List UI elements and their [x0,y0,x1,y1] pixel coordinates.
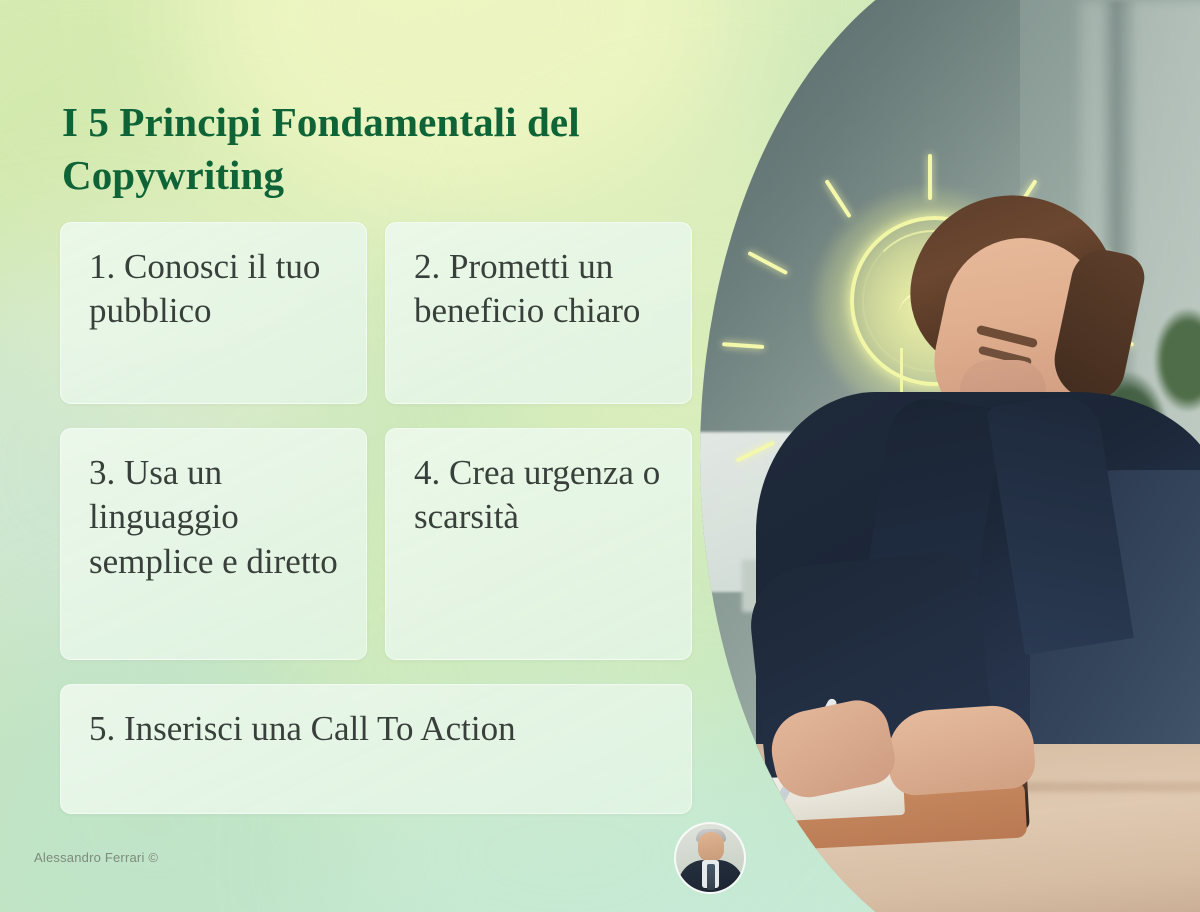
principle-card[interactable]: 2. Prometti un beneficio chiaro [385,222,692,404]
person-hand-right [885,703,1037,797]
principle-card[interactable]: 3. Usa un linguaggio semplice e diretto [60,428,367,660]
slide-canvas: I 5 Principi Fondamentali del Copywritin… [0,0,1200,912]
principle-card[interactable]: 4. Crea urgenza o scarsità [385,428,692,660]
avatar[interactable] [674,822,746,894]
photo-panel [700,0,1200,912]
principles-row: 3. Usa un linguaggio semplice e diretto … [60,428,692,660]
photo-illustration [700,0,1200,912]
principle-card[interactable]: 5. Inserisci una Call To Action [60,684,692,814]
lightbulb-ray [824,179,851,218]
principle-card[interactable]: 1. Conosci il tuo pubblico [60,222,367,404]
principles-row: 5. Inserisci una Call To Action [60,684,692,814]
page-title: I 5 Principi Fondamentali del Copywritin… [62,96,682,203]
credit-text: Alessandro Ferrari © [34,850,158,865]
principles-row: 1. Conosci il tuo pubblico 2. Prometti u… [60,222,692,404]
avatar-face [698,832,724,862]
lightbulb-ray [928,154,932,200]
avatar-tie [707,864,715,890]
principles-list: 1. Conosci il tuo pubblico 2. Prometti u… [60,222,692,838]
